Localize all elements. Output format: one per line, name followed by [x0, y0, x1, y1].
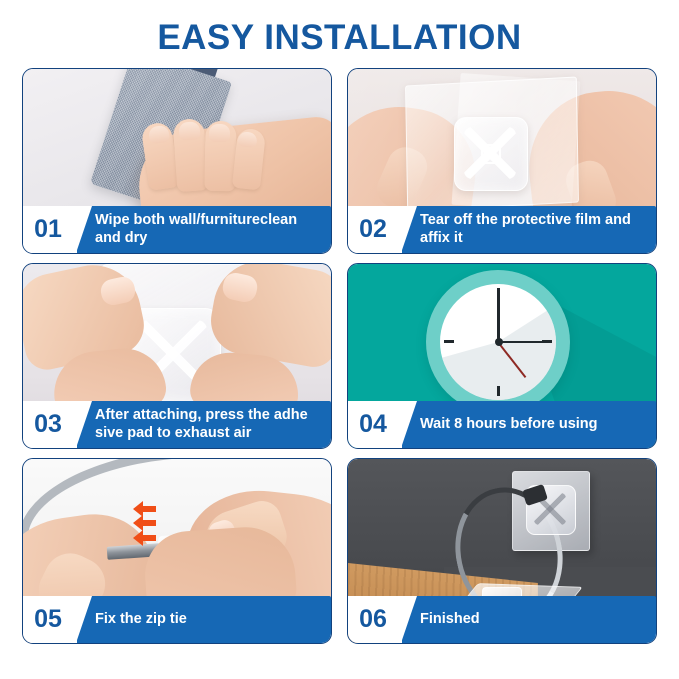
step-caption-text: Finished	[420, 611, 480, 629]
clock-tick-9	[444, 340, 454, 343]
clock-hour-hand	[497, 298, 500, 342]
step-number: 02	[348, 206, 402, 253]
step-caption-text: Tear off the protective film and affix i…	[420, 212, 642, 247]
step-number: 04	[348, 401, 402, 448]
clock-tick-12	[497, 288, 500, 298]
step-caption-text: Fix the zip tie	[95, 611, 187, 629]
step-card-03: 03 After attaching, press the adhe sive …	[22, 263, 332, 449]
step-card-06: 06 Finished	[347, 458, 657, 644]
step-card-04: 04 Wait 8 hours before using	[347, 263, 657, 449]
step-caption-text: After attaching, press the adhe sive pad…	[95, 407, 317, 442]
clock-minute-hand	[498, 341, 544, 343]
fingernail	[209, 124, 230, 142]
fingernail	[178, 121, 200, 140]
clock-tick-6	[497, 386, 500, 396]
step-caption-text: Wipe both wall/furnitureclean and dry	[95, 212, 317, 247]
step-caption-bar: Finished	[402, 596, 656, 643]
steps-grid: 01 Wipe both wall/furnitureclean and dry	[22, 68, 657, 660]
step-caption-bar: Fix the zip tie	[77, 596, 331, 643]
pad-center-square	[481, 144, 501, 164]
step-caption-bar: Tear off the protective film and affix i…	[402, 206, 656, 253]
step-card-02: 02 Tear off the protective film and affi…	[347, 68, 657, 254]
step-04-caption: 04 Wait 8 hours before using	[348, 401, 656, 448]
step-number: 01	[23, 206, 77, 253]
step-number: 03	[23, 401, 77, 448]
step-05-caption: 05 Fix the zip tie	[23, 596, 331, 643]
step-caption-bar: Wait 8 hours before using	[402, 401, 656, 448]
step-number: 05	[23, 596, 77, 643]
clock-center-pin	[495, 338, 503, 346]
step-03-caption: 03 After attaching, press the adhe sive …	[23, 401, 331, 448]
step-caption-text: Wait 8 hours before using	[420, 416, 598, 434]
step-01-caption: 01 Wipe both wall/furnitureclean and dry	[23, 206, 331, 253]
step-caption-bar: After attaching, press the adhe sive pad…	[77, 401, 331, 448]
step-card-05: 05 Fix the zip tie	[22, 458, 332, 644]
page-title: EASY INSTALLATION	[0, 16, 679, 60]
easy-installation-infographic: EASY INSTALLATION 01 Wipe bot	[0, 0, 679, 679]
step-02-caption: 02 Tear off the protective film and affi…	[348, 206, 656, 253]
step-caption-bar: Wipe both wall/furnitureclean and dry	[77, 206, 331, 253]
step-number: 06	[348, 596, 402, 643]
step-06-caption: 06 Finished	[348, 596, 656, 643]
step-card-01: 01 Wipe both wall/furnitureclean and dry	[22, 68, 332, 254]
